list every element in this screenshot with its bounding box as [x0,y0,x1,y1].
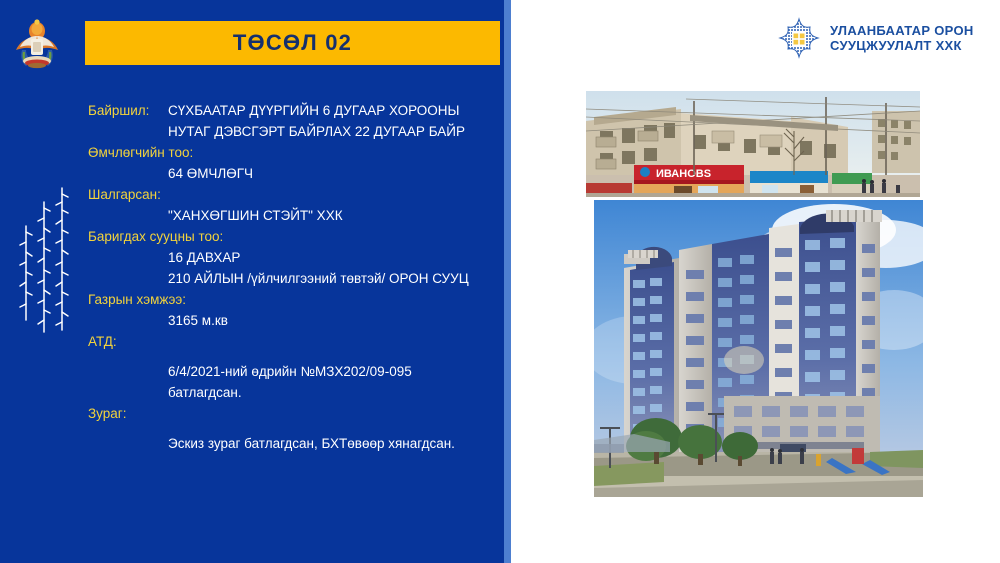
ub-oron-suutsjuulalt-logo-icon [776,17,822,63]
brand-line-1: УЛААНБААТАР ОРОН [830,23,974,38]
value-owners: 64 ӨМЧЛӨГЧ [168,163,488,184]
mongolian-vertical-script [14,180,76,340]
new-building-rendering [594,200,923,497]
slide-title-banner: ТӨСӨЛ 02 [85,21,500,65]
label-atd: АТД: [88,331,488,352]
label-selected: Шалгарсан: [88,184,488,205]
value-location-line2: НУТАГ ДЭВСГЭРТ БАЙРЛАХ 22 ДУГААР БАЙР [168,121,488,142]
info-row-location: Байршил: СҮХБААТАР ДҮҮРГИЙН 6 ДУГААР ХОР… [88,100,488,121]
panel-edge-stripe [504,0,511,563]
slide-root: ТӨСӨЛ 02 [0,0,1000,563]
value-drawing: Эскиз зураг батлагдсан, БХТөвөөр хянагдс… [168,433,488,454]
brand-line-2: СУУЦЖУУЛАЛТ ХХК [830,38,974,53]
value-building-line1: 16 ДАВХАР [168,247,488,268]
value-location-line1: СҮХБААТАР ДҮҮРГИЙН 6 ДУГААР ХОРООНЫ [168,100,459,121]
value-land: 3165 м.кв [168,310,488,331]
label-location: Байршил: [88,100,168,121]
slide-title: ТӨСӨЛ 02 [233,30,352,56]
label-land: Газрын хэмжээ: [88,289,488,310]
label-owners: Өмчлөгчийн тоо: [88,142,488,163]
project-info-block: Байршил: СҮХБААТАР ДҮҮРГИЙН 6 ДУГААР ХОР… [88,100,488,454]
existing-building-photo: ИВАНОВЅ [586,91,920,197]
value-atd-line2: батлагдсан. [168,382,488,403]
value-atd-line1: 6/4/2021-ний өдрийн №МЗХ202/09-095 [168,361,488,382]
label-building: Баригдах сууцны тоо: [88,226,488,247]
label-drawing: Зураг: [88,403,488,424]
value-building-line2: 210 АЙЛЫН /үйлчилгээний төвтэй/ ОРОН СУУ… [168,268,488,289]
svg-text:ИВАНОВЅ: ИВАНОВЅ [656,168,711,180]
brand-name: УЛААНБААТАР ОРОН СУУЦЖУУЛАЛТ ХХК [830,23,974,53]
value-selected: "ХАНХӨГШИН СТЭЙТ" ХХК [168,205,488,226]
ulaanbaatar-city-emblem-icon [12,17,62,71]
